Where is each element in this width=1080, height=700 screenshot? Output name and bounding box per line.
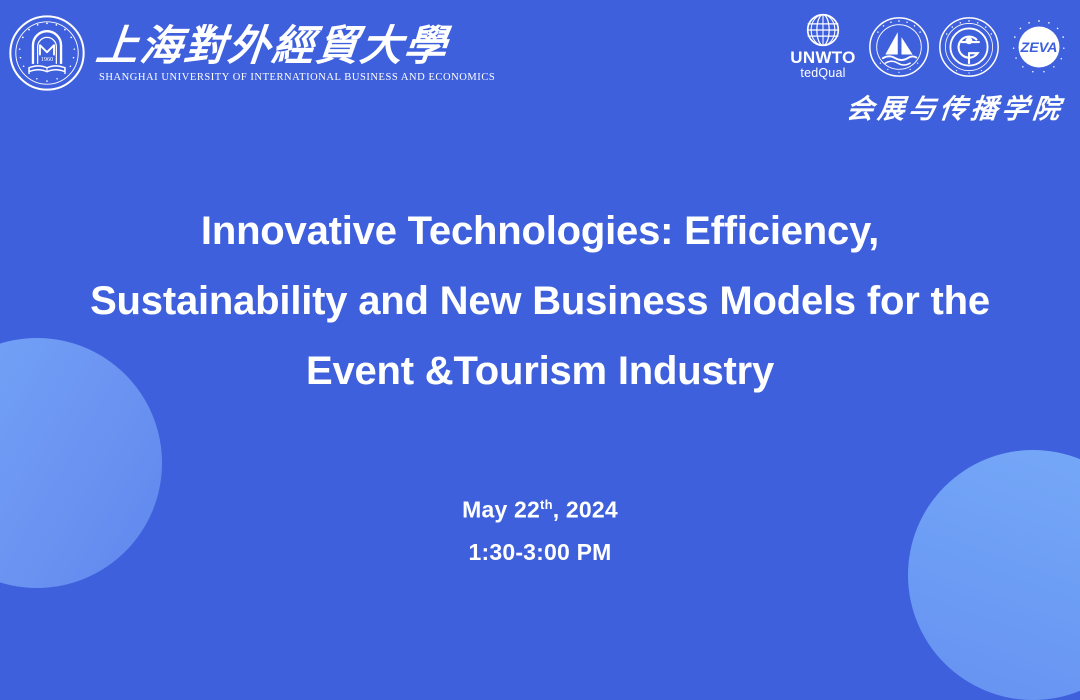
tedqual-label: tedQual — [800, 66, 845, 82]
university-name-cn: 上海對外經貿大學 — [94, 25, 498, 70]
event-date-prefix: May 22 — [462, 497, 540, 523]
svg-text:1960: 1960 — [41, 56, 53, 63]
title-line-3: Event &Tourism Industry — [16, 336, 1064, 406]
title-line-1: Innovative Technologies: Efficiency, — [16, 196, 1064, 266]
unwto-tedqual-logo: UNWTO tedQual — [786, 13, 860, 82]
unwto-label: UNWTO — [790, 49, 855, 66]
event-datetime: May 22th, 2024 1:30-3:00 PM — [0, 484, 1080, 573]
title-line-2: Sustainability and New Business Models f… — [16, 266, 1064, 336]
presentation-title: Innovative Technologies: Efficiency, Sus… — [0, 196, 1080, 406]
school-event-communication-seal — [868, 16, 930, 78]
zeva-seal: ZEVA — [1008, 16, 1070, 78]
event-date-ordinal: th — [540, 497, 553, 512]
event-date-suffix: , 2024 — [553, 497, 618, 523]
university-brand-lockup: 1960 上海對外經貿大學 SHANGHAI UNIVERSITY OF INT… — [8, 14, 495, 92]
school-name-cn: 会展与传播学院 — [845, 87, 1066, 126]
university-name-block: 上海對外經貿大學 SHANGHAI UNIVERSITY OF INTERNAT… — [96, 23, 495, 83]
association-seal — [938, 16, 1000, 78]
slide-header: 1960 上海對外經貿大學 SHANGHAI UNIVERSITY OF INT… — [0, 0, 1080, 136]
university-name-en: SHANGHAI UNIVERSITY OF INTERNATIONAL BUS… — [96, 72, 495, 83]
globe-icon — [800, 13, 846, 47]
accreditation-brand-lockup: UNWTO tedQual — [786, 8, 1070, 126]
sailboat-waves-icon — [883, 32, 916, 65]
accreditation-logo-row: UNWTO tedQual — [786, 8, 1070, 86]
svg-text:ZEVA: ZEVA — [1020, 40, 1058, 56]
event-time: 1:30-3:00 PM — [0, 531, 1080, 573]
event-date: May 22th, 2024 — [0, 484, 1080, 531]
suibe-university-seal: 1960 — [8, 14, 86, 92]
